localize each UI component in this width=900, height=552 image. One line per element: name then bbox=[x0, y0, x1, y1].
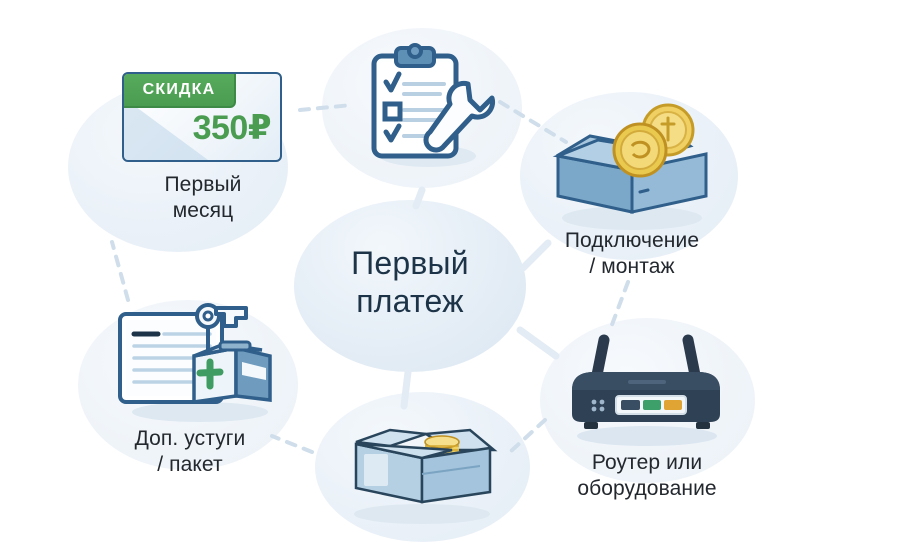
clipboard-wrench-icon bbox=[358, 42, 498, 172]
node-router[interactable]: Роутер или оборудование bbox=[552, 332, 752, 522]
discount-badge: СКИДКА bbox=[122, 72, 236, 108]
document-key-box-icon bbox=[112, 300, 287, 425]
infographic-canvas: СКИДКА 350₽ Первый месяц bbox=[0, 0, 900, 552]
node-label-extra-services: Доп. устуги / пакет bbox=[90, 426, 290, 477]
connector-extraservices-firstmonth bbox=[112, 242, 128, 300]
node-extra-services[interactable]: Доп. устуги / пакет bbox=[112, 300, 302, 495]
node-label-router: Роутер или оборудование bbox=[547, 450, 747, 501]
open-box-coins-icon bbox=[330, 402, 515, 527]
connector-center-router bbox=[520, 330, 556, 356]
node-checklist[interactable] bbox=[358, 42, 498, 172]
discount-amount: 350₽ bbox=[193, 108, 271, 148]
router-icon bbox=[552, 332, 742, 450]
node-connection[interactable]: Подключение / монтаж bbox=[540, 100, 740, 290]
node-label-first-month: Первый месяц bbox=[113, 172, 293, 223]
box-coins-icon bbox=[540, 100, 725, 235]
node-payment-box[interactable] bbox=[330, 402, 520, 527]
discount-badge-label: СКИДКА bbox=[143, 81, 216, 99]
center-label: Первый платеж bbox=[294, 244, 526, 321]
node-label-connection: Подключение / монтаж bbox=[532, 228, 732, 279]
connector-center-paymentbox bbox=[404, 372, 408, 406]
node-first-month[interactable]: СКИДКА 350₽ Первый месяц bbox=[118, 72, 308, 247]
discount-coupon-icon: СКИДКА 350₽ bbox=[122, 72, 282, 162]
